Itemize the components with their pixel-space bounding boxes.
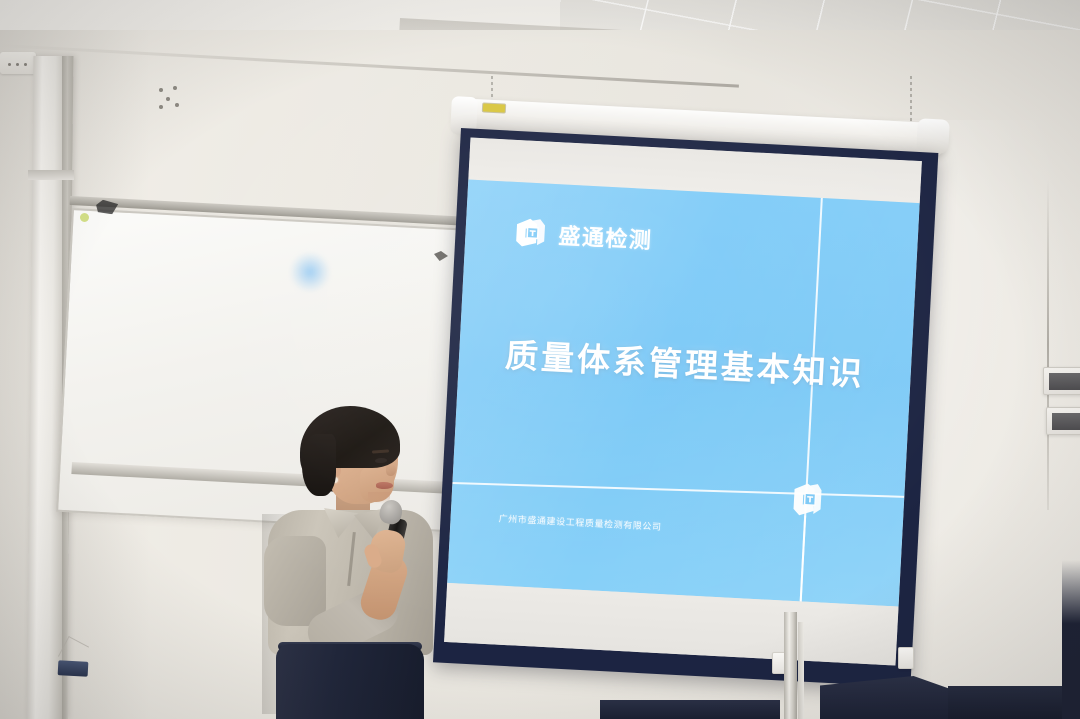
foreground-dark-edge: [1062, 560, 1080, 719]
whiteboard-glare: [290, 252, 330, 292]
presenter-hair-side: [302, 434, 336, 496]
wall-screw-marks: [157, 86, 187, 110]
screen-housing-cap-right: [916, 118, 950, 154]
wall-plate: [0, 52, 36, 74]
room-photo-scene: 盛通检测 质量体系管理基本知识 广州市盛通建设工程质量检测有限公司: [0, 0, 1080, 719]
presenter-trousers: [276, 644, 424, 719]
slide-guide-horizontal: [452, 482, 904, 498]
dark-furniture-right: [948, 686, 1080, 719]
dark-furniture-front: [600, 700, 780, 719]
projected-slide: 盛通检测 质量体系管理基本知识 广州市盛通建设工程质量检测有限公司: [447, 179, 920, 606]
pillar-top-cap: [28, 170, 74, 180]
slide-title: 质量体系管理基本知识: [458, 326, 912, 398]
wall-vent-lower: [1046, 407, 1080, 435]
slide-guide-vertical-lower: [800, 515, 806, 601]
screen-chain-left-icon: [491, 76, 493, 100]
screen-surface: 盛通检测 质量体系管理基本知识 广州市盛通建设工程质量检测有限公司: [444, 138, 922, 666]
wall-shelf-object: [58, 660, 89, 677]
wall-seam-right: [1047, 180, 1049, 510]
presenter-sleeve-left: [264, 536, 326, 626]
wall-vent-upper: [1043, 367, 1080, 395]
screen-support-post-secondary: [798, 622, 804, 719]
shengtong-watermark-icon: [789, 479, 825, 521]
slide-brand-lockup: 盛通检测: [513, 215, 654, 256]
screen-support-post: [784, 612, 797, 719]
presenter: [262, 404, 482, 719]
screen-body: 盛通检测 质量体系管理基本知识 广州市盛通建设工程质量检测有限公司: [433, 128, 938, 687]
whiteboard-magnet-icon: [80, 213, 89, 222]
presenter-mouth: [376, 482, 393, 489]
screen-housing-sticker: [483, 103, 505, 112]
shengtong-logo-icon: [513, 215, 549, 251]
slide-footer-company: 广州市盛通建设工程质量检测有限公司: [498, 512, 662, 534]
presenter-nose: [386, 464, 396, 476]
light-switch-right[interactable]: [898, 647, 914, 669]
slide-brand-name: 盛通检测: [558, 218, 654, 255]
projector-screen: 盛通检测 质量体系管理基本知识 广州市盛通建设工程质量检测有限公司: [455, 98, 955, 668]
screen-chain-right-icon: [910, 76, 912, 122]
